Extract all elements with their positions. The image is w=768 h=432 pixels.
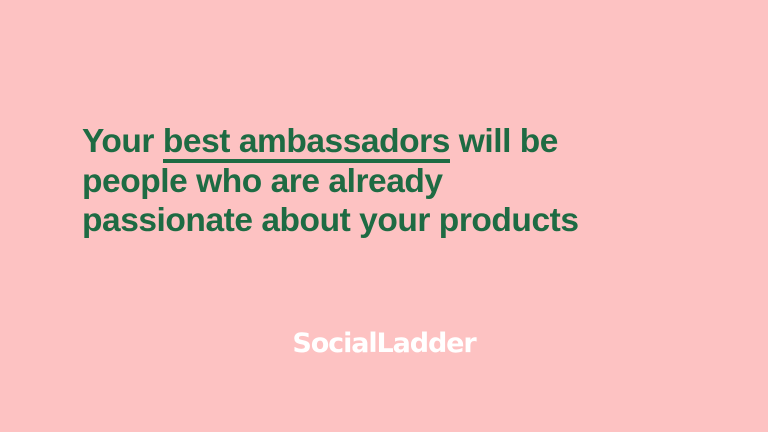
- headline-line-2: people who are already: [82, 162, 682, 202]
- headline-line-1-prefix: Your: [82, 123, 163, 160]
- headline-line-1-suffix: will be: [450, 123, 558, 160]
- brand-logo-container: SocialLadder: [0, 330, 768, 357]
- headline-line-1: Your best ambassadors will be: [82, 122, 682, 162]
- socialladder-wordmark-logo: SocialLadder: [292, 330, 475, 357]
- headline-line-3: passionate about your products: [82, 201, 682, 241]
- headline-emphasis-best-ambassadors: best ambassadors: [163, 122, 450, 162]
- quote-card-slide: Your best ambassadors will be people who…: [0, 0, 768, 432]
- headline-text: Your best ambassadors will be people who…: [82, 122, 682, 241]
